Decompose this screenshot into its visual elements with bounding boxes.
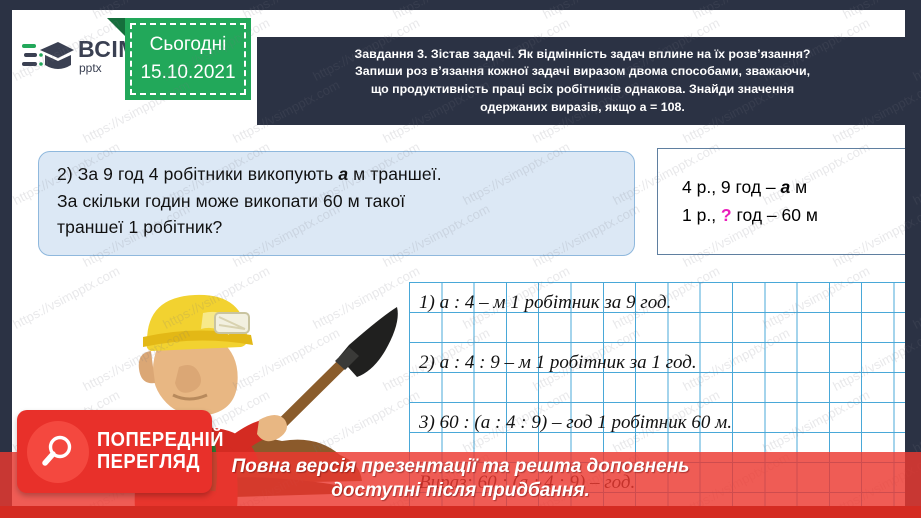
short-notation-line-1: 4 р., 9 год – а м: [682, 174, 905, 201]
solution-step-2: 2) а : 4 : 9 – м 1 робітник за 1 год.: [413, 342, 905, 402]
magnifier-icon: [27, 421, 89, 483]
today-label: Сьогодні: [150, 31, 227, 59]
solution-step-1: 1) а : 4 – м 1 робітник за 9 год.: [413, 282, 905, 342]
watermark-text: https://vsimpptx.com: [911, 263, 921, 332]
task-line-3: що продуктивність праці всіх робітників …: [371, 81, 794, 99]
problem-line-1: 2) За 9 год 4 робітники викопують а м тр…: [57, 161, 620, 188]
watermark-text: https://vsimpptx.com: [911, 15, 921, 84]
preview-badge[interactable]: ПОПЕРЕДНІЙ ПЕРЕГЛЯД: [17, 410, 212, 493]
watermark-text: https://vsimpptx.com: [911, 139, 921, 208]
task-line-2: Запиши роз в’язання кожної задачі виразо…: [355, 63, 810, 81]
problem-variable: а: [338, 164, 348, 184]
question-mark: ?: [721, 205, 732, 225]
slide: ВСІМ pptx: [0, 0, 921, 518]
short-notation-line-2: 1 р., ? год – 60 м: [682, 202, 905, 229]
promo-line-2: доступні після придбання.: [331, 479, 590, 503]
problem-line-2: За скільки годин може викопати 60 м тако…: [57, 188, 620, 215]
graduation-cap-icon: [22, 34, 74, 78]
task-header-box: Завдання 3. Зістав задачі. Як відмінніст…: [255, 35, 905, 127]
today-date: 15.10.2021: [140, 59, 235, 87]
watermark-text: https://vsimpptx.com: [911, 387, 921, 456]
promo-bottom-strip: [0, 506, 921, 518]
today-date-badge: Сьогодні 15.10.2021: [125, 18, 251, 100]
preview-badge-line-1: ПОПЕРЕДНІЙ: [97, 430, 224, 452]
task-line-1: Завдання 3. Зістав задачі. Як відмінніст…: [354, 46, 810, 64]
short-notation-box: 4 р., 9 год – а м 1 р., ? год – 60 м: [657, 148, 905, 255]
task-line-4: одержаних виразів, якщо а = 108.: [480, 99, 685, 117]
promo-line-1: Повна версія презентації та решта доповн…: [232, 455, 690, 479]
problem-statement-box: 2) За 9 год 4 робітники викопують а м тр…: [38, 151, 635, 256]
problem-line-3: траншеї 1 робітник?: [57, 214, 620, 241]
preview-badge-line-2: ПЕРЕГЛЯД: [97, 452, 224, 474]
